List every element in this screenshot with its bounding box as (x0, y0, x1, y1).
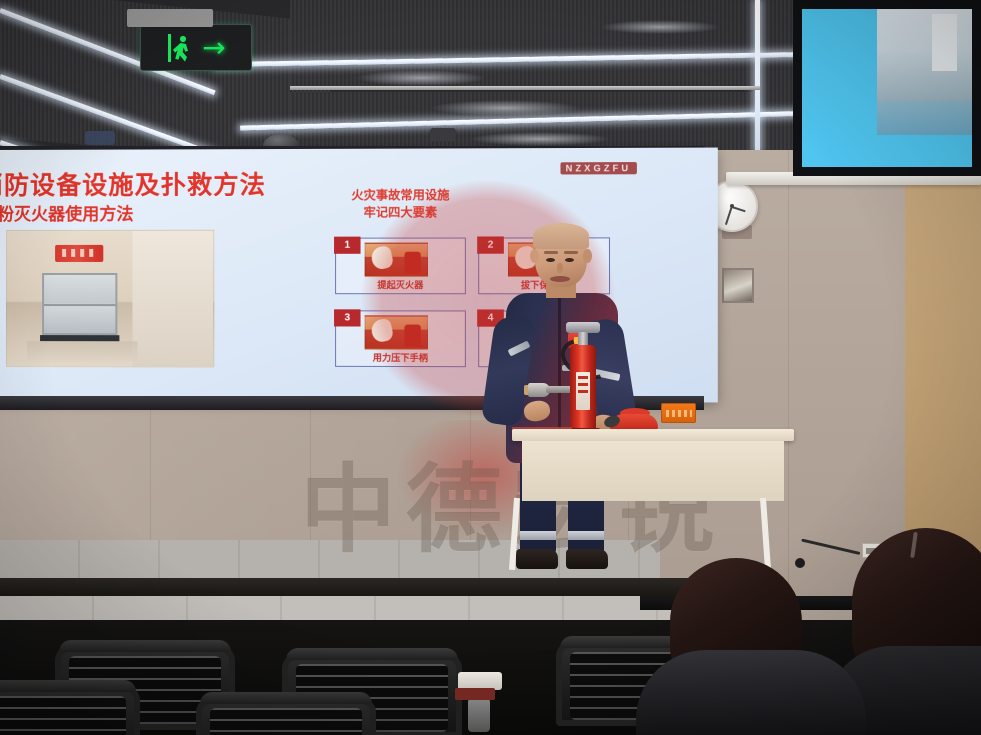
firefighter-instructor (480, 225, 640, 575)
presenter-eye (546, 258, 555, 262)
ceiling-reflection (430, 100, 580, 116)
secondary-monitor-screen (802, 9, 972, 167)
clock-hour-hand (732, 206, 746, 212)
slide-step-3: 3 用力压下手柄 (335, 310, 466, 367)
presenter-nose (557, 263, 563, 273)
slide-step-label: 用力压下手柄 (336, 351, 465, 364)
chair-top-rail (0, 680, 136, 692)
auditorium-chair (196, 688, 376, 735)
orange-toolbox (661, 403, 696, 423)
running-man-exit-icon (166, 33, 198, 63)
slide-photo-extinguisher-cabinet (6, 230, 214, 368)
led-strip (755, 0, 760, 152)
slide-headline: 火灾事故常用设施 牢记四大要素 (351, 187, 449, 222)
clock-center-pin (730, 204, 734, 208)
slide-step-image (365, 315, 428, 349)
slide-step-number: 1 (334, 237, 360, 254)
wall-wood-panel (905, 150, 981, 580)
presenter-boot (566, 549, 608, 569)
slide-step-image (365, 243, 428, 277)
clock-minute-hand (725, 207, 732, 226)
audience-member (646, 558, 846, 735)
training-photo-scene: → 消防设备设施及扑救方法 干粉灭火器使用方法 (0, 0, 981, 735)
secondary-monitor-image (877, 9, 972, 101)
wall-seam (788, 150, 789, 610)
presenter-ear (530, 249, 539, 263)
chair-top-rail (200, 692, 372, 704)
chair-mesh (0, 696, 126, 735)
secondary-monitor-image-floor (877, 101, 972, 136)
ceiling-reflection (356, 70, 486, 86)
slide-photo-floor-reflection (27, 341, 138, 363)
chair-top-rail (59, 640, 231, 652)
presenter-boot-cuff (568, 531, 604, 540)
ceiling-sensor (430, 128, 456, 141)
exit-arrow-icon: → (202, 34, 225, 62)
ceiling-reflection (600, 20, 720, 34)
ceiling-reflection (470, 132, 610, 146)
ceiling-speaker (85, 131, 115, 145)
presenter-boot (516, 549, 558, 569)
slide-headline-line1: 火灾事故常用设施 (351, 187, 449, 204)
chair-mesh (210, 708, 362, 735)
slide-step-1: 1 提起灭火器 (335, 238, 466, 295)
audience-body (636, 650, 866, 735)
slide-title: 消防设备设施及扑救方法 (0, 165, 266, 202)
presenter-table-front (522, 441, 784, 501)
slide-photo-wall (132, 231, 213, 367)
ceiling-rail (290, 86, 760, 90)
presenter-eyebrow (544, 251, 558, 254)
presenter-hair (533, 223, 589, 249)
slide-subtitle: 干粉灭火器使用方法 (0, 200, 133, 225)
slide-photo-sign (55, 245, 103, 262)
chair-top-rail (286, 648, 458, 660)
slide-step-label: 提起灭火器 (336, 278, 465, 291)
slide-photo-cabinet (42, 273, 117, 335)
presenter-boot-cuff (520, 531, 556, 540)
auditorium-chair (0, 676, 140, 735)
chair-arm (468, 698, 490, 732)
secondary-monitor (793, 0, 981, 176)
slide-step-number: 3 (334, 309, 360, 326)
slide-headline-line2: 牢记四大要素 (351, 204, 449, 221)
presenter-table-top (512, 429, 794, 441)
chair-tablet-bracket (455, 688, 495, 700)
presenter-mouth (550, 276, 570, 282)
emergency-exit-sign: → (140, 24, 252, 71)
slide-brand-logo: NZXGZFU (560, 162, 636, 174)
extinguisher-label (576, 372, 590, 410)
presenter-ear (583, 249, 592, 263)
wall-access-panel (722, 268, 754, 303)
